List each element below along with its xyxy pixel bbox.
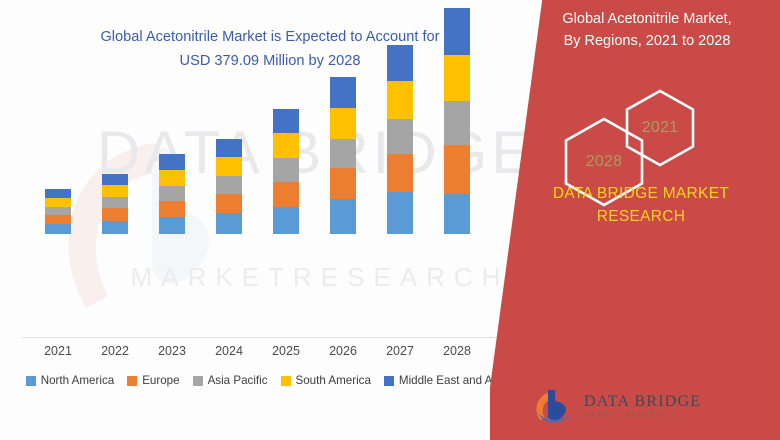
bar-segment [330, 139, 356, 168]
bar-segment [45, 198, 71, 207]
bar-segment [159, 217, 185, 234]
bar-segment [273, 207, 299, 234]
legend-swatch [193, 376, 203, 386]
chart-legend: North AmericaEuropeAsia PacificSouth Ame… [0, 374, 540, 387]
x-axis-label-2021: 2021 [28, 344, 88, 358]
brand-name-line-2: RESEARCH [510, 205, 772, 228]
x-axis-line [22, 337, 512, 338]
brand-name: DATA BRIDGE MARKET RESEARCH [510, 182, 772, 229]
chart-title-line-2: USD 379.09 Million by 2028 [60, 50, 480, 74]
bar-segment [216, 213, 242, 234]
x-axis-label-2023: 2023 [142, 344, 202, 358]
logo-main-text: DATA BRIDGE [584, 394, 701, 410]
bar-segment [444, 145, 470, 194]
legend-label: Europe [142, 374, 179, 387]
bar-segment [216, 176, 242, 194]
panel-title-line-2: By Regions, 2021 to 2028 [524, 30, 770, 52]
bar-segment [273, 133, 299, 158]
bar-2025[interactable] [273, 109, 299, 234]
bar-segment [45, 224, 71, 234]
bar-segment [444, 194, 470, 234]
bar-segment [330, 77, 356, 107]
bar-segment [102, 221, 128, 234]
bar-segment [159, 186, 185, 201]
bar-segment [216, 139, 242, 157]
bar-2024[interactable] [216, 139, 242, 234]
right-brand-panel: Global Acetonitrile Market, By Regions, … [490, 0, 780, 440]
bar-2027[interactable] [387, 45, 413, 234]
bar-segment [273, 182, 299, 207]
x-axis-label-2022: 2022 [85, 344, 145, 358]
legend-swatch [384, 376, 394, 386]
legend-item[interactable]: South America [281, 374, 371, 387]
logo-sub-text: MARKET RESEARCH [584, 413, 701, 419]
legend-swatch [26, 376, 36, 386]
bar-segment [45, 207, 71, 215]
panel-title: Global Acetonitrile Market, By Regions, … [524, 8, 770, 53]
bar-segment [45, 189, 71, 198]
x-axis-label-2027: 2027 [370, 344, 430, 358]
bar-segment [387, 154, 413, 192]
chart-title-line-1: Global Acetonitrile Market is Expected t… [60, 26, 480, 50]
x-axis-label-2024: 2024 [199, 344, 259, 358]
bar-2021[interactable] [45, 189, 71, 234]
x-axis-label-2025: 2025 [256, 344, 316, 358]
legend-swatch [127, 376, 137, 386]
bar-segment [216, 157, 242, 176]
bar-segment [102, 185, 128, 197]
bar-segment [102, 174, 128, 185]
legend-item[interactable]: North America [26, 374, 114, 387]
bar-segment [444, 101, 470, 145]
panel-title-line-1: Global Acetonitrile Market, [524, 8, 770, 30]
infographic-canvas: DATA BRIDGE MARKETRESEARCH Global Aceton… [0, 0, 780, 440]
bar-segment [102, 197, 128, 208]
bar-segment [387, 119, 413, 154]
bar-2026[interactable] [330, 77, 356, 234]
data-bridge-logo-mark [534, 386, 576, 426]
x-axis-label-2026: 2026 [313, 344, 373, 358]
bar-segment [273, 109, 299, 133]
bar-segment [159, 170, 185, 186]
data-bridge-logo: DATA BRIDGE MARKET RESEARCH [534, 386, 701, 426]
bar-segment [330, 199, 356, 234]
bar-segment [387, 81, 413, 119]
hexagon-2028-label: 2028 [586, 153, 622, 171]
legend-item[interactable]: Europe [127, 374, 179, 387]
bar-segment [159, 201, 185, 217]
bar-segment [159, 154, 185, 170]
legend-item[interactable]: Asia Pacific [193, 374, 268, 387]
legend-label: Asia Pacific [208, 374, 268, 387]
chart-title: Global Acetonitrile Market is Expected t… [60, 26, 480, 73]
bar-segment [330, 168, 356, 200]
bar-segment [102, 208, 128, 221]
bar-segment [387, 192, 413, 234]
brand-name-line-1: DATA BRIDGE MARKET [510, 182, 772, 205]
bar-segment [216, 194, 242, 213]
x-axis-label-2028: 2028 [427, 344, 487, 358]
hexagon-2021-label: 2021 [642, 119, 678, 137]
bar-segment [273, 158, 299, 181]
bar-2023[interactable] [159, 154, 185, 234]
legend-swatch [281, 376, 291, 386]
legend-label: South America [296, 374, 371, 387]
bar-2022[interactable] [102, 174, 128, 234]
bar-segment [330, 108, 356, 139]
bar-segment [45, 215, 71, 224]
data-bridge-logo-text: DATA BRIDGE MARKET RESEARCH [584, 394, 701, 419]
legend-label: North America [41, 374, 114, 387]
x-axis-labels: 20212022202320242025202620272028 [0, 344, 540, 366]
